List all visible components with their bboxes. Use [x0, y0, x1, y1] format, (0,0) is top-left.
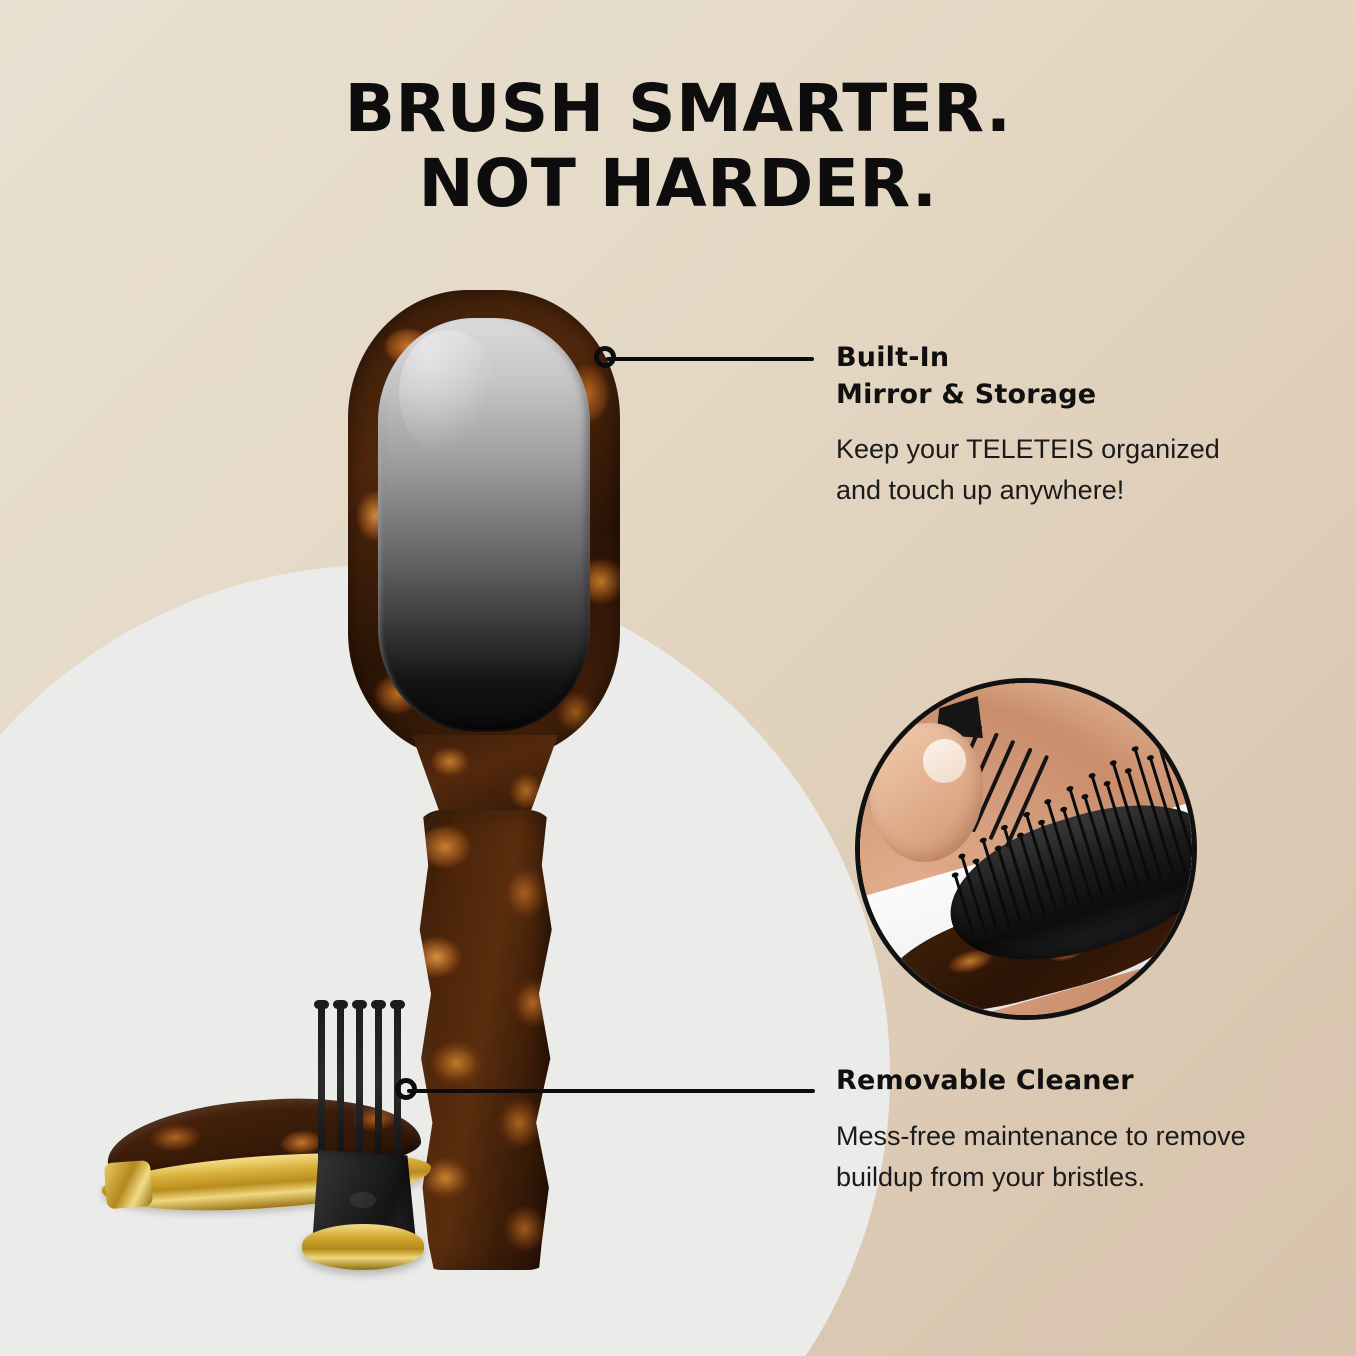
- leader-line-stroke: [606, 357, 814, 361]
- mirror-frame: [348, 290, 620, 760]
- leader-line-stroke: [407, 1089, 815, 1093]
- callout-cleaner-title: Removable Cleaner: [836, 1063, 1256, 1100]
- callout-mirror-title-line-1: Built-In: [836, 340, 1236, 377]
- mirror-glass: [378, 318, 590, 732]
- callout-mirror-body: Keep your TELETEIS organized and touch u…: [836, 429, 1236, 511]
- product-infographic: BRUSH SMARTER. NOT HARDER.: [0, 0, 1356, 1356]
- cleaner-prong: [318, 1000, 325, 1168]
- inset-cleaner-tine: [1005, 754, 1049, 847]
- product-image: [80, 280, 780, 1290]
- headline-line-2: NOT HARDER.: [0, 147, 1356, 222]
- inset-photo-cleaning-demo: [855, 678, 1197, 1020]
- cleaner-prong: [375, 1000, 382, 1160]
- page-title: BRUSH SMARTER. NOT HARDER.: [0, 72, 1356, 221]
- callout-cleaner-title-line-1: Removable Cleaner: [836, 1063, 1256, 1100]
- brush-handle: [414, 810, 556, 1270]
- callout-mirror-storage: Built-In Mirror & Storage Keep your TELE…: [836, 340, 1236, 512]
- headline-line-1: BRUSH SMARTER.: [0, 72, 1356, 147]
- bristle: [975, 861, 998, 929]
- cleaner-prong: [337, 1000, 344, 1162]
- bristle: [981, 840, 1010, 926]
- leader-dot-marker: [395, 1078, 417, 1100]
- storage-lid-hinge: [104, 1160, 153, 1209]
- cleaner-gold-base: [302, 1224, 424, 1270]
- callout-mirror-title: Built-In Mirror & Storage: [836, 340, 1236, 413]
- inset-cleaner-tine: [988, 747, 1032, 840]
- callout-mirror-title-line-2: Mirror & Storage: [836, 377, 1236, 414]
- cleaner-prong: [356, 1000, 363, 1168]
- callout-removable-cleaner: Removable Cleaner Mess-free maintenance …: [836, 1063, 1256, 1198]
- removable-cleaner-tool: [302, 1000, 422, 1270]
- inset-thumbnail: [923, 739, 966, 782]
- leader-line-cleaner: [395, 1078, 815, 1104]
- bristle: [961, 856, 987, 933]
- leader-dot-marker: [594, 346, 616, 368]
- bristle: [997, 848, 1022, 922]
- leader-line-mirror: [594, 346, 814, 372]
- callout-cleaner-body: Mess-free maintenance to remove buildup …: [836, 1116, 1256, 1198]
